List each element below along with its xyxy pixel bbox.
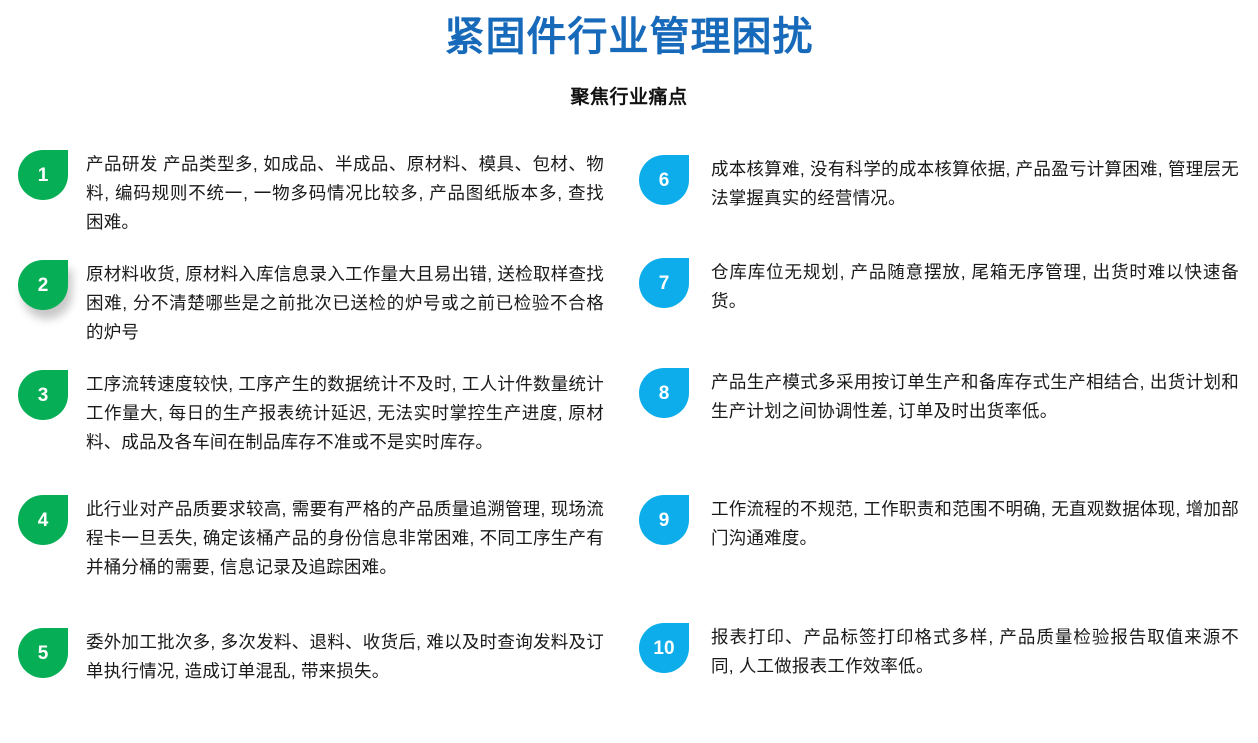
pain-point-item[interactable]: 2 原材料收货, 原材料入库信息录入工作量大且易出错, 送检取样查找困难, 分不… bbox=[18, 260, 618, 347]
pain-points-column-left: 1 产品研发 产品类型多, 如成品、半成品、原材料、模具、包材、物料, 编码规则… bbox=[0, 140, 629, 743]
pain-point-item[interactable]: 1 产品研发 产品类型多, 如成品、半成品、原材料、模具、包材、物料, 编码规则… bbox=[18, 150, 618, 237]
page-header: 紧固件行业管理困扰 聚焦行业痛点 bbox=[0, 0, 1258, 109]
pain-point-badge: 4 bbox=[18, 495, 68, 545]
pain-points-column-right: 6 成本核算难, 没有科学的成本核算依据, 产品盈亏计算困难, 管理层无法掌握真… bbox=[629, 140, 1258, 743]
pain-point-badge: 10 bbox=[639, 623, 689, 673]
pain-point-item[interactable]: 8 产品生产模式多采用按订单生产和备库存式生产相结合, 出货计划和生产计划之间协… bbox=[639, 368, 1249, 426]
pain-point-text: 报表打印、产品标签打印格式多样, 产品质量检验报告取值来源不同, 人工做报表工作… bbox=[711, 623, 1239, 681]
pain-point-text: 此行业对产品质要求较高, 需要有严格的产品质量追溯管理, 现场流程卡一旦丢失, … bbox=[86, 495, 604, 582]
pain-point-badge: 3 bbox=[18, 370, 68, 420]
pain-point-item[interactable]: 10 报表打印、产品标签打印格式多样, 产品质量检验报告取值来源不同, 人工做报… bbox=[639, 623, 1249, 681]
pain-point-text: 产品研发 产品类型多, 如成品、半成品、原材料、模具、包材、物料, 编码规则不统… bbox=[86, 150, 604, 237]
pain-point-item[interactable]: 7 仓库库位无规划, 产品随意摆放, 尾箱无序管理, 出货时难以快速备货。 bbox=[639, 258, 1249, 316]
pain-point-text: 原材料收货, 原材料入库信息录入工作量大且易出错, 送检取样查找困难, 分不清楚… bbox=[86, 260, 604, 347]
pain-point-badge: 7 bbox=[639, 258, 689, 308]
pain-point-text: 工序流转速度较快, 工序产生的数据统计不及时, 工人计件数量统计工作量大, 每日… bbox=[86, 370, 604, 457]
pain-point-text: 产品生产模式多采用按订单生产和备库存式生产相结合, 出货计划和生产计划之间协调性… bbox=[711, 368, 1239, 426]
page-title: 紧固件行业管理困扰 bbox=[0, 14, 1258, 60]
pain-point-badge: 6 bbox=[639, 155, 689, 205]
page-subtitle: 聚焦行业痛点 bbox=[0, 60, 1258, 109]
pain-point-text: 工作流程的不规范, 工作职责和范围不明确, 无直观数据体现, 增加部门沟通难度。 bbox=[711, 495, 1239, 553]
pain-point-text: 委外加工批次多, 多次发料、退料、收货后, 难以及时查询发料及订单执行情况, 造… bbox=[86, 628, 604, 686]
pain-point-item[interactable]: 3 工序流转速度较快, 工序产生的数据统计不及时, 工人计件数量统计工作量大, … bbox=[18, 370, 618, 457]
pain-point-badge: 2 bbox=[18, 260, 68, 310]
pain-points-container: 1 产品研发 产品类型多, 如成品、半成品、原材料、模具、包材、物料, 编码规则… bbox=[0, 140, 1258, 743]
pain-point-badge: 1 bbox=[18, 150, 68, 200]
pain-point-text: 仓库库位无规划, 产品随意摆放, 尾箱无序管理, 出货时难以快速备货。 bbox=[711, 258, 1239, 316]
pain-point-item[interactable]: 6 成本核算难, 没有科学的成本核算依据, 产品盈亏计算困难, 管理层无法掌握真… bbox=[639, 155, 1249, 213]
pain-point-badge: 9 bbox=[639, 495, 689, 545]
pain-point-item[interactable]: 5 委外加工批次多, 多次发料、退料、收货后, 难以及时查询发料及订单执行情况,… bbox=[18, 628, 618, 686]
pain-point-item[interactable]: 9 工作流程的不规范, 工作职责和范围不明确, 无直观数据体现, 增加部门沟通难… bbox=[639, 495, 1249, 553]
pain-point-badge: 5 bbox=[18, 628, 68, 678]
pain-point-item[interactable]: 4 此行业对产品质要求较高, 需要有严格的产品质量追溯管理, 现场流程卡一旦丢失… bbox=[18, 495, 618, 582]
pain-point-badge: 8 bbox=[639, 368, 689, 418]
pain-point-text: 成本核算难, 没有科学的成本核算依据, 产品盈亏计算困难, 管理层无法掌握真实的… bbox=[711, 155, 1239, 213]
